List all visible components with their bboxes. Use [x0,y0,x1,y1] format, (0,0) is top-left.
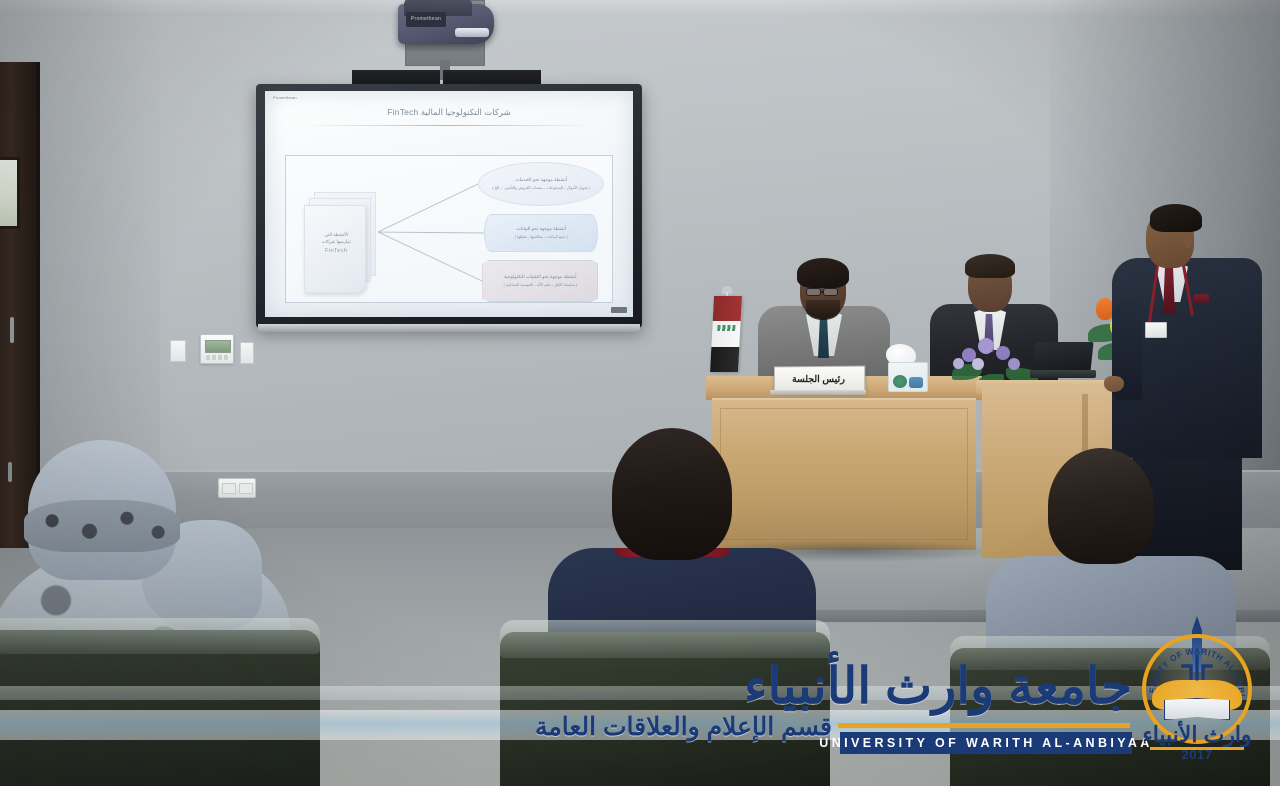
slide-diagram: الأنشطة التي تمارسها شركات FinTech أنشطة… [285,155,613,303]
audience-left-hijab-pattern-band [24,500,180,552]
flag-stripe-red [713,296,742,321]
flower-petal [978,338,994,354]
node-data-heading: أنشطة موجهة نحو البيانات [517,226,566,232]
presenter-hair [1150,204,1202,232]
chair-front-row-right-plastic-wrap [950,636,1270,670]
chair-front-row-left-plastic-wrap [0,618,320,654]
door[interactable] [0,62,40,548]
interactive-whiteboard[interactable]: Promethean شركات التكنولوجيا المالية Fin… [256,84,642,328]
nameplate-stand [770,390,866,395]
diagram-node-tech: أنشطة موجهة نحو التقنيات التكنولوجية ( س… [482,260,598,302]
tissue-box [888,362,928,392]
conference-photo: Promethean Promethean شركات التكنولوجيا … [0,0,1280,786]
slide-title: شركات التكنولوجيا المالية FinTech [279,107,619,118]
doc-line-2: تمارسها شركات [322,239,351,244]
whiteboard-pen-tray [258,324,640,332]
iraq-flag [710,296,742,372]
chairman-glasses-bridge [820,291,824,293]
diagram-source-node: الأنشطة التي تمارسها شركات FinTech [304,192,376,288]
audience-center-head [612,428,732,560]
presenter-tie [1163,268,1175,314]
node-tech-heading: أنشطة موجهة نحو التقنيات التكنولوجية [504,274,577,280]
panel-member-hair [965,254,1015,278]
chairman-glasses-left-lens [806,288,821,296]
node-services-heading: أنشطة موجهة نحو الخدمات [515,177,567,183]
wall-switch-plate-secondary[interactable] [240,342,254,364]
chairman-beard [806,300,840,320]
flag-stripe-black [710,347,739,372]
presenter-pocket-square [1194,293,1210,303]
node-services-sub: ( تحويل الأموال ، المدفوعات ، منصات القر… [492,186,590,191]
diagram-node-services: أنشطة موجهة نحو الخدمات ( تحويل الأموال … [478,162,604,206]
doc-line-1: الأنشطة التي [324,232,348,237]
laptop-keyboard[interactable] [1030,370,1096,378]
flower-petal [953,358,964,369]
chairman-nameplate: رئيس الجلسة [774,366,865,393]
presenter-id-badge [1145,322,1167,338]
presenter-ear [1184,236,1193,248]
flower-petal [1008,358,1020,370]
board-sensor [611,307,627,313]
chairman-hair [797,258,849,288]
chair-front-row-center-plastic-wrap [500,620,830,658]
door-hinge [8,462,12,482]
nameplate-text: رئيس الجلسة [792,373,845,384]
wall-switch-plate[interactable] [170,340,186,362]
chairman-glasses-right-lens [823,288,838,296]
slide-divider [303,125,595,126]
doc-text: الأنشطة التي تمارسها شركات FinTech [307,232,365,255]
flower-petal [972,358,984,370]
socket-receptacle-left [222,483,236,494]
thermostat-buttons[interactable] [206,355,230,360]
node-tech-sub: ( سلسلة الكتل ، تعلم الآلة ، الحوسبة الس… [504,283,577,288]
doc-sheet-front: الأنشطة التي تمارسها شركات FinTech [304,205,366,293]
presenter-hand [1104,376,1124,392]
projection-screen: Promethean شركات التكنولوجيا المالية Fin… [265,91,633,317]
thermostat-screen [205,340,231,353]
flag-stripe-white [711,321,740,346]
laptop-screen[interactable] [1032,342,1093,372]
diagram-node-data: أنشطة موجهة نحو البيانات ( جمع البيانات … [484,214,598,252]
node-data-sub: ( جمع البيانات ، معالجتها ، تحليلها ) [515,235,568,240]
door-glass-panel [0,157,20,229]
doc-fintech-label: FinTech [307,248,365,255]
socket-receptacle-right [239,483,253,494]
projector-lens [455,28,489,37]
audience-right-head [1048,448,1154,564]
head-table-front-panel [712,398,976,550]
projector-brand-label: Promethean [406,12,446,27]
presentation-slide: شركات التكنولوجيا المالية FinTech الأن [265,91,633,317]
ac-thermostat[interactable] [200,334,234,364]
flower-petal [996,346,1010,360]
door-handle[interactable] [10,317,14,343]
wall-power-outlet[interactable] [218,478,256,498]
